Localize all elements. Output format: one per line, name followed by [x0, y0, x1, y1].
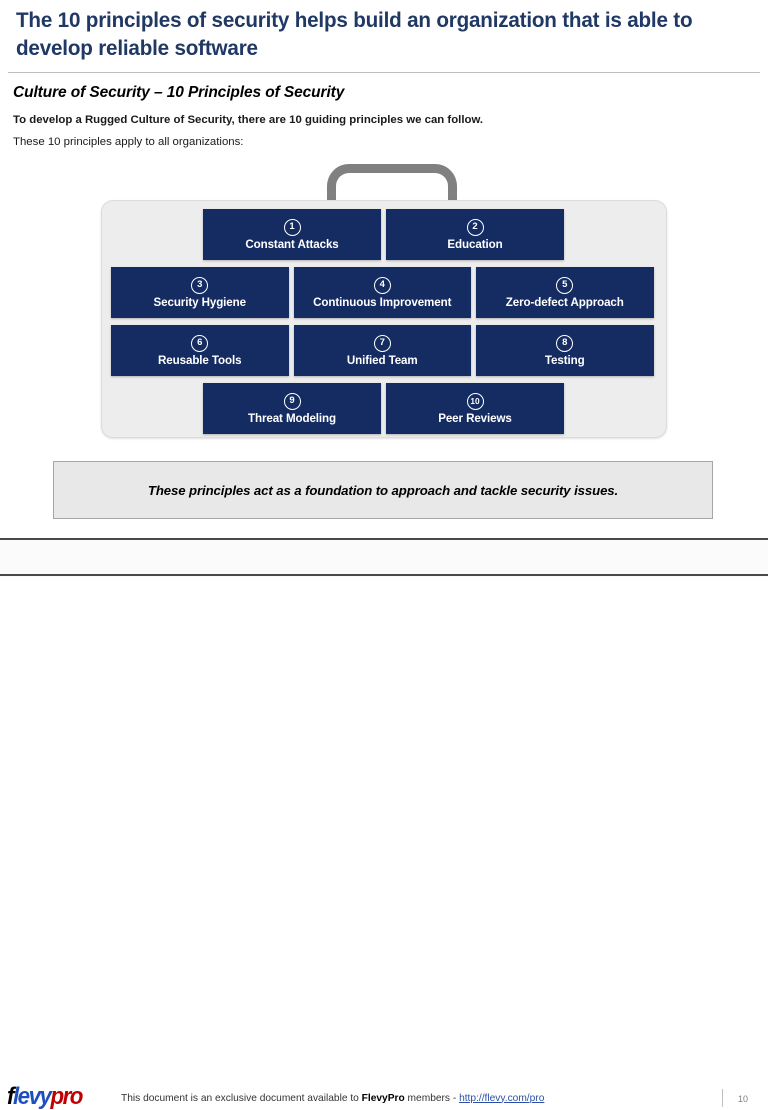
header-divider — [8, 72, 760, 73]
principle-label: Threat Modeling — [248, 413, 336, 425]
principle-card-8[interactable]: 8 Testing — [476, 325, 654, 376]
principle-card-10[interactable]: 10 Peer Reviews — [386, 383, 564, 434]
principle-label: Zero-defect Approach — [506, 297, 624, 309]
flevypro-logo: flevypro — [7, 1085, 82, 1109]
principle-row-2: 3 Security Hygiene 4 Continuous Improvem… — [111, 267, 654, 318]
principle-card-4[interactable]: 4 Continuous Improvement — [294, 267, 472, 318]
principle-label: Testing — [545, 355, 585, 367]
principle-number-badge: 10 — [467, 393, 484, 410]
principle-number-badge: 1 — [284, 219, 301, 236]
logo-text-pro: pro — [50, 1083, 82, 1110]
principle-card-1[interactable]: 1 Constant Attacks — [203, 209, 381, 260]
principle-label: Security Hygiene — [154, 297, 246, 309]
principle-number-badge: 6 — [191, 335, 208, 352]
section-heading: Culture of Security – 10 Principles of S… — [13, 84, 344, 102]
footer-link[interactable]: http://flevy.com/pro — [459, 1093, 544, 1104]
principle-label: Reusable Tools — [158, 355, 241, 367]
principle-card-5[interactable]: 5 Zero-defect Approach — [476, 267, 654, 318]
principle-number-badge: 8 — [556, 335, 573, 352]
principle-card-2[interactable]: 2 Education — [386, 209, 564, 260]
principle-number-badge: 5 — [556, 277, 573, 294]
principle-label: Peer Reviews — [438, 413, 512, 425]
principle-label: Education — [447, 239, 502, 251]
principle-card-9[interactable]: 9 Threat Modeling — [203, 383, 381, 434]
logo-text-levy: levy — [13, 1083, 50, 1110]
footer-text-after: members - — [405, 1093, 459, 1104]
footer-text-before: This document is an exclusive document a… — [121, 1093, 362, 1104]
footer-text: This document is an exclusive document a… — [121, 1093, 544, 1104]
callout-text: These principles act as a foundation to … — [148, 483, 618, 498]
principle-card-7[interactable]: 7 Unified Team — [294, 325, 472, 376]
principle-card-6[interactable]: 6 Reusable Tools — [111, 325, 289, 376]
principle-number-badge: 3 — [191, 277, 208, 294]
principle-label: Constant Attacks — [245, 239, 338, 251]
principle-row-1: 1 Constant Attacks 2 Education — [203, 209, 564, 260]
page-title: The 10 principles of security helps buil… — [16, 6, 723, 63]
principle-card-3[interactable]: 3 Security Hygiene — [111, 267, 289, 318]
toolbox-diagram: 1 Constant Attacks 2 Education 3 Securit… — [101, 164, 667, 440]
intro-line-secondary: These 10 principles apply to all organiz… — [13, 136, 243, 148]
principle-number-badge: 9 — [284, 393, 301, 410]
principle-number-badge: 2 — [467, 219, 484, 236]
footer: flevypro This document is an exclusive d… — [0, 540, 768, 578]
principle-label: Unified Team — [347, 355, 418, 367]
principle-number-badge: 4 — [374, 277, 391, 294]
principle-row-4: 9 Threat Modeling 10 Peer Reviews — [203, 383, 564, 434]
footer-brand: FlevyPro — [362, 1093, 405, 1104]
intro-line-primary: To develop a Rugged Culture of Security,… — [13, 114, 483, 126]
principle-label: Continuous Improvement — [313, 297, 451, 309]
footer-divider-bottom — [0, 574, 768, 576]
callout-box: These principles act as a foundation to … — [53, 461, 713, 519]
principle-row-3: 6 Reusable Tools 7 Unified Team 8 Testin… — [111, 325, 654, 376]
page-number: 10 — [738, 1094, 748, 1104]
footer-page-divider — [722, 1089, 723, 1107]
principle-number-badge: 7 — [374, 335, 391, 352]
